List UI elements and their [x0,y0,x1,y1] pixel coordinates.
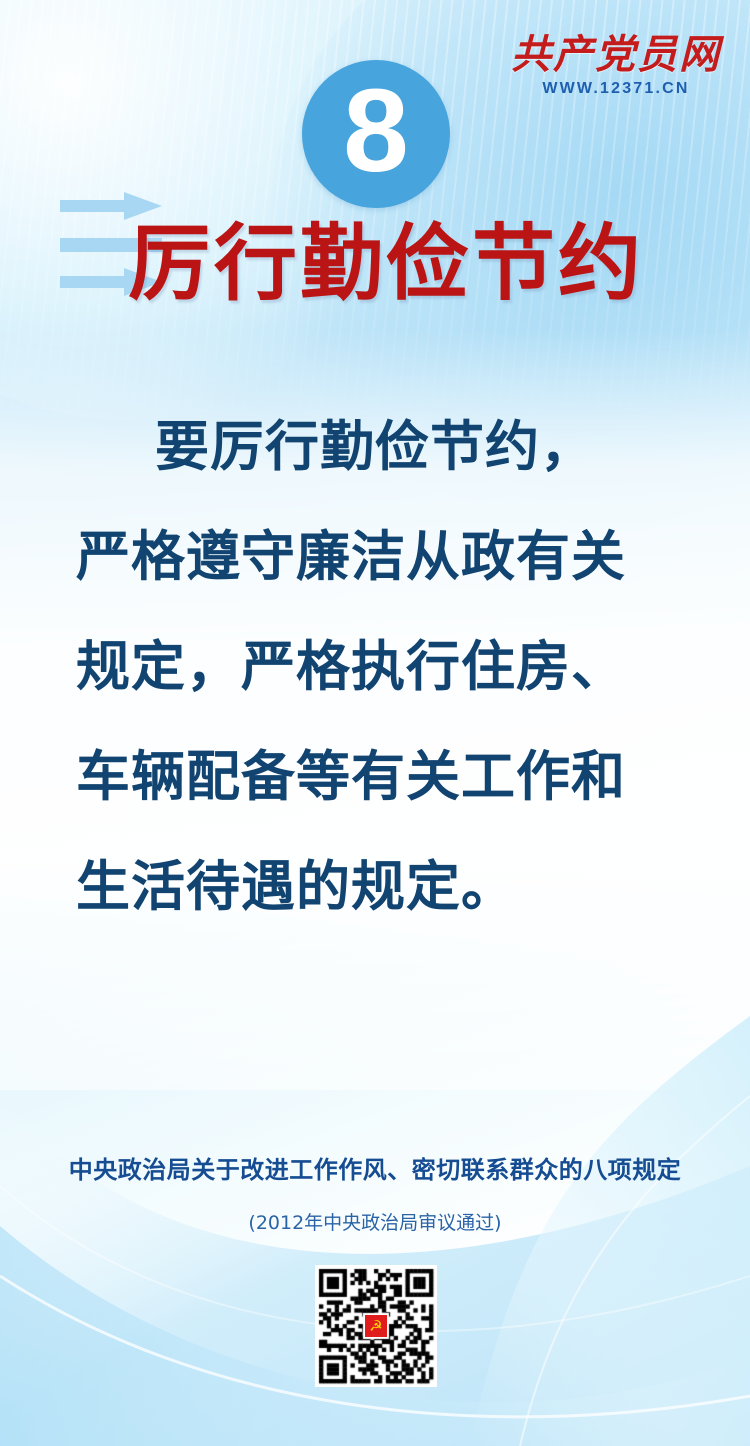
body-line: 生活待遇的规定。 [76,832,674,942]
page-title: 厉行勤俭节约 [128,196,644,316]
party-emblem-icon: ☭ [365,1315,387,1337]
party-emblem-glyph: ☭ [369,1319,382,1334]
poster-canvas: 共产党员网 WWW.12371.CN 8 厉行勤俭节约 要厉行勤俭节约， 严格遵… [0,0,750,1446]
qr-code[interactable]: ☭ [315,1265,437,1387]
item-number-value: 8 [343,72,409,190]
body-line: 规定，严格执行住房、 [76,612,674,722]
body-line: 车辆配备等有关工作和 [76,722,674,832]
body-line: 严格遵守廉洁从政有关 [76,502,674,612]
footer-title: 中央政治局关于改进工作作风、密切联系群众的八项规定 [0,1150,750,1185]
footer-subtitle: (2012年中央政治局审议通过) [0,1208,750,1235]
body-paragraph: 要厉行勤俭节约， 严格遵守廉洁从政有关 规定，严格执行住房、 车辆配备等有关工作… [0,392,750,942]
site-logo-url: WWW.12371.CN [506,80,726,98]
item-number-badge: 8 [302,60,450,208]
site-logo-name: 共产党员网 [506,34,726,76]
site-logo[interactable]: 共产党员网 WWW.12371.CN [506,34,726,98]
body-line: 要厉行勤俭节约， [76,392,674,502]
